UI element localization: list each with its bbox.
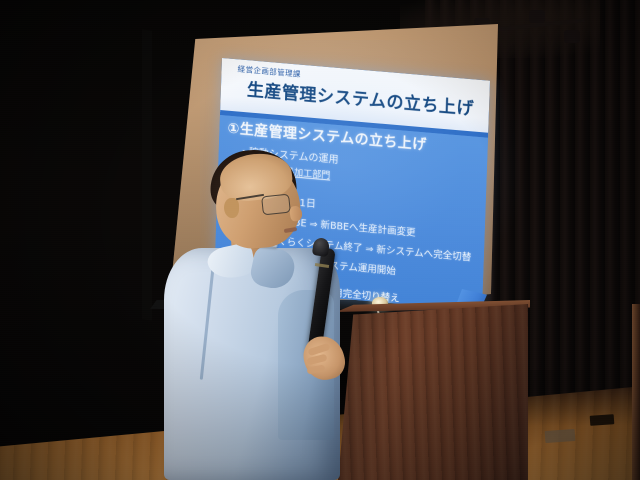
stage-light-icon bbox=[564, 30, 580, 43]
floor-access-plate bbox=[545, 429, 576, 443]
floor-access-plate bbox=[590, 414, 615, 426]
microphone-icon bbox=[312, 237, 330, 257]
speaker bbox=[150, 140, 370, 480]
speaker-ear bbox=[224, 198, 239, 218]
eyeglasses-icon bbox=[261, 194, 291, 216]
stage-light-icon bbox=[529, 10, 545, 23]
podium-right-edge bbox=[632, 304, 640, 480]
photo-scene: 経営企画部管理課 生産管理システムの立ち上げ ①生産管理システムの立ち上げ ・稼… bbox=[0, 0, 640, 480]
speaker-nose bbox=[289, 205, 303, 222]
